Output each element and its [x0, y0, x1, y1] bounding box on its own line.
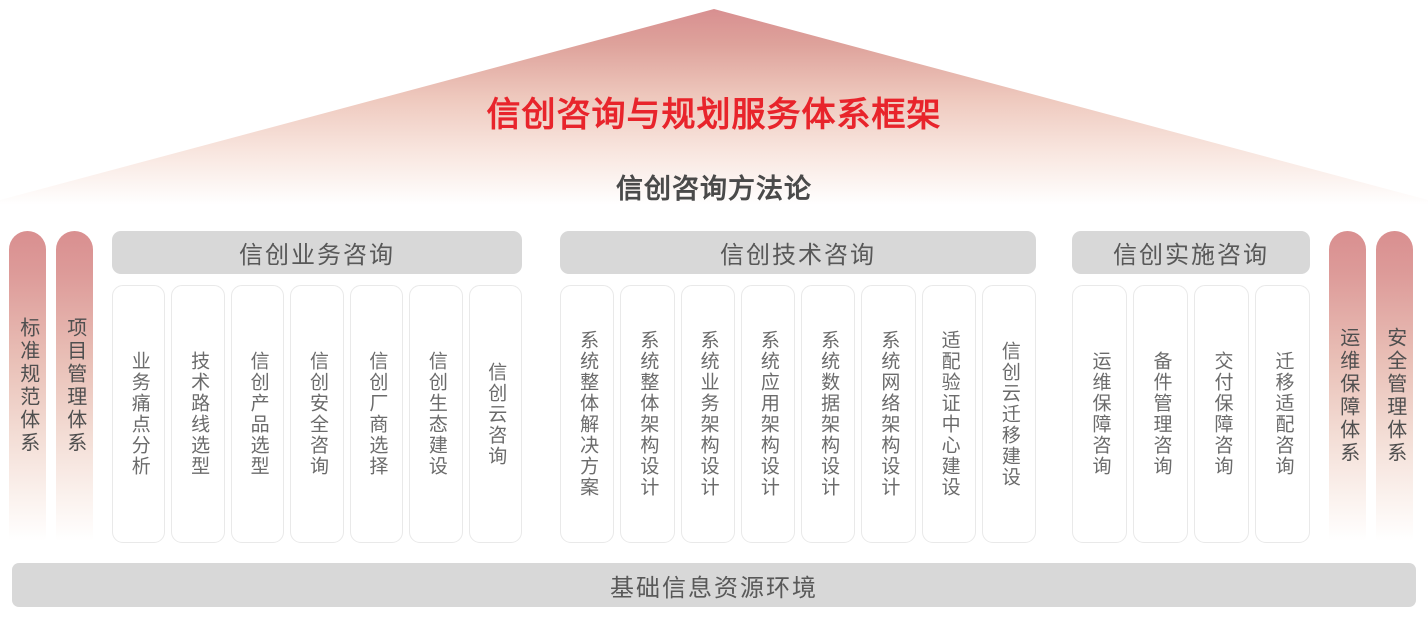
group-implementation-consulting: 信创实施咨询 运维保障咨询 备件管理咨询 交付保障咨询 迁移适配咨询	[1072, 231, 1310, 543]
item-card[interactable]: 信创产品选型	[231, 285, 284, 543]
item-label: 信创安全咨询	[306, 351, 328, 477]
item-card[interactable]: 系统业务架构设计	[681, 285, 735, 543]
item-card[interactable]: 迁移适配咨询	[1255, 285, 1310, 543]
item-card[interactable]: 系统整体架构设计	[620, 285, 674, 543]
group-items-technical: 系统整体解决方案 系统整体架构设计 系统业务架构设计 系统应用架构设计 系统数据…	[560, 285, 1036, 543]
item-label: 迁移适配咨询	[1271, 351, 1293, 477]
item-label: 系统整体架构设计	[636, 330, 658, 498]
item-card[interactable]: 技术路线选型	[171, 285, 224, 543]
group-header-implementation[interactable]: 信创实施咨询	[1072, 231, 1310, 274]
group-items-implementation: 运维保障咨询 备件管理咨询 交付保障咨询 迁移适配咨询	[1072, 285, 1310, 543]
item-card[interactable]: 系统数据架构设计	[801, 285, 855, 543]
pillar-label: 标准规范体系	[16, 317, 38, 455]
foundation-bar[interactable]: 基础信息资源环境	[12, 563, 1416, 607]
item-label: 信创生态建设	[425, 351, 447, 477]
page-title: 信创咨询与规划服务体系框架	[0, 98, 1428, 132]
pillar-label: 安全管理体系	[1383, 327, 1405, 465]
item-label: 系统业务架构设计	[697, 330, 719, 498]
pillar-project-management-system[interactable]: 项目管理体系	[56, 231, 93, 541]
item-card[interactable]: 信创云咨询	[469, 285, 522, 543]
item-card[interactable]: 系统整体解决方案	[560, 285, 614, 543]
group-technical-consulting: 信创技术咨询 系统整体解决方案 系统整体架构设计 系统业务架构设计 系统应用架构…	[560, 231, 1036, 543]
item-label: 运维保障咨询	[1088, 351, 1110, 477]
item-card[interactable]: 备件管理咨询	[1133, 285, 1188, 543]
pillar-standard-specification-system[interactable]: 标准规范体系	[9, 231, 46, 541]
item-label: 系统整体解决方案	[576, 330, 598, 498]
item-card[interactable]: 信创厂商选择	[350, 285, 403, 543]
group-header-technical[interactable]: 信创技术咨询	[560, 231, 1036, 274]
item-label: 备件管理咨询	[1149, 351, 1171, 477]
item-label: 技术路线选型	[187, 351, 209, 477]
pillar-security-management-system[interactable]: 安全管理体系	[1376, 231, 1413, 541]
item-card[interactable]: 信创生态建设	[409, 285, 462, 543]
item-label: 适配验证中心建设	[938, 330, 960, 498]
item-card[interactable]: 交付保障咨询	[1194, 285, 1249, 543]
item-card[interactable]: 信创安全咨询	[290, 285, 343, 543]
item-label: 系统网络架构设计	[877, 330, 899, 498]
pillar-operations-assurance-system[interactable]: 运维保障体系	[1329, 231, 1366, 541]
item-card[interactable]: 系统应用架构设计	[741, 285, 795, 543]
item-card[interactable]: 业务痛点分析	[112, 285, 165, 543]
item-label: 系统应用架构设计	[757, 330, 779, 498]
group-business-consulting: 信创业务咨询 业务痛点分析 技术路线选型 信创产品选型 信创安全咨询 信创厂商选…	[112, 231, 522, 543]
item-card[interactable]: 运维保障咨询	[1072, 285, 1127, 543]
item-label: 交付保障咨询	[1210, 351, 1232, 477]
item-label: 业务痛点分析	[128, 351, 150, 477]
foundation-label: 基础信息资源环境	[610, 568, 818, 603]
pillar-label: 运维保障体系	[1336, 327, 1358, 465]
item-card[interactable]: 信创云迁移建设	[982, 285, 1036, 543]
pillar-label: 项目管理体系	[63, 317, 85, 455]
item-label: 系统数据架构设计	[817, 330, 839, 498]
group-header-business[interactable]: 信创业务咨询	[112, 231, 522, 274]
item-label: 信创云迁移建设	[998, 341, 1020, 488]
item-card[interactable]: 系统网络架构设计	[861, 285, 915, 543]
item-label: 信创产品选型	[247, 351, 269, 477]
title-block: 信创咨询与规划服务体系框架 信创咨询方法论	[0, 0, 1428, 203]
item-label: 信创厂商选择	[365, 351, 387, 477]
page-subtitle: 信创咨询方法论	[0, 176, 1428, 203]
item-label: 信创云咨询	[484, 362, 506, 467]
group-items-business: 业务痛点分析 技术路线选型 信创产品选型 信创安全咨询 信创厂商选择 信创生态建…	[112, 285, 522, 543]
item-card[interactable]: 适配验证中心建设	[922, 285, 976, 543]
